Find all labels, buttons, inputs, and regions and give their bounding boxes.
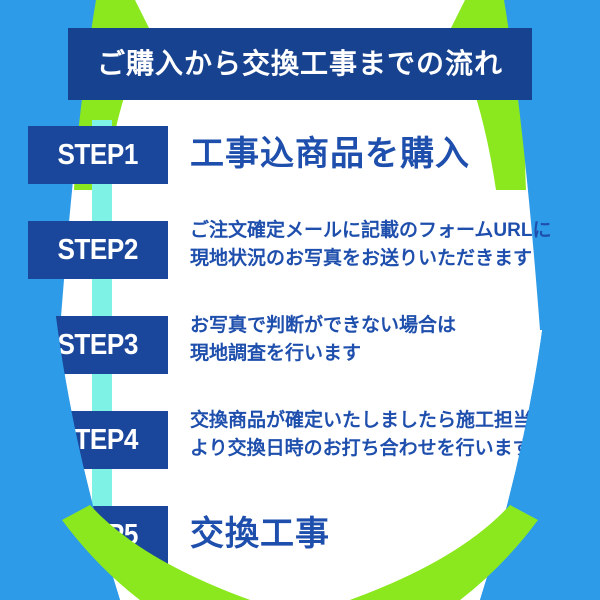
step-badge-1: STEP1 [28,126,168,184]
step-row: STEP2 ご注文確定メールに記載のフォームURLに 現地状況のお写真をお送りい… [0,221,600,279]
infographic-canvas: ご購入から交換工事までの流れ STEP1 工事込商品を購入 STEP2 ご注文確… [0,0,600,600]
step-badge-3: STEP3 [28,316,168,374]
step-badge-label: STEP3 [58,331,138,360]
step-row: STEP1 工事込商品を購入 [0,126,600,184]
step-row: STEP4 交換商品が確定いたしましたら施工担当者 より交換日時のお打ち合わせを… [0,411,600,469]
step-description-5: 交換工事 [190,517,590,553]
header-banner: ご購入から交換工事までの流れ [68,28,532,100]
step-badge-label: STEP2 [58,236,138,265]
step-description-3: お写真で判断ができない場合は 現地調査を行います [190,312,590,367]
step-description-line: より交換日時のお打ち合わせを行います [190,435,590,463]
step-row: STEP3 お写真で判断ができない場合は 現地調査を行います [0,316,600,374]
step-description-line: ご注文確定メールに記載のフォームURLに [190,217,590,245]
step-description-1: 工事込商品を購入 [190,137,590,173]
step-description-line: 交換工事 [190,517,590,553]
step-badge-label: STEP5 [58,521,138,550]
step-badge-label: STEP1 [58,141,138,170]
step-description-line: お写真で判断ができない場合は [190,312,590,340]
step-description-line: 現地調査を行います [190,340,590,368]
step-description-line: 交換商品が確定いたしましたら施工担当者 [190,407,590,435]
step-description-line: 現地状況のお写真をお送りいただきます [190,245,590,273]
step-badge-4: STEP4 [28,411,168,469]
step-badge-label: STEP4 [58,426,138,455]
step-description-2: ご注文確定メールに記載のフォームURLに 現地状況のお写真をお送りいただきます [190,217,590,272]
banner-title: ご購入から交換工事までの流れ [97,50,503,78]
step-description-4: 交換商品が確定いたしましたら施工担当者 より交換日時のお打ち合わせを行います [190,407,590,462]
step-description-line: 工事込商品を購入 [190,137,590,173]
step-row: STEP5 交換工事 [0,506,600,564]
step-badge-2: STEP2 [28,221,168,279]
step-badge-5: STEP5 [28,506,168,564]
